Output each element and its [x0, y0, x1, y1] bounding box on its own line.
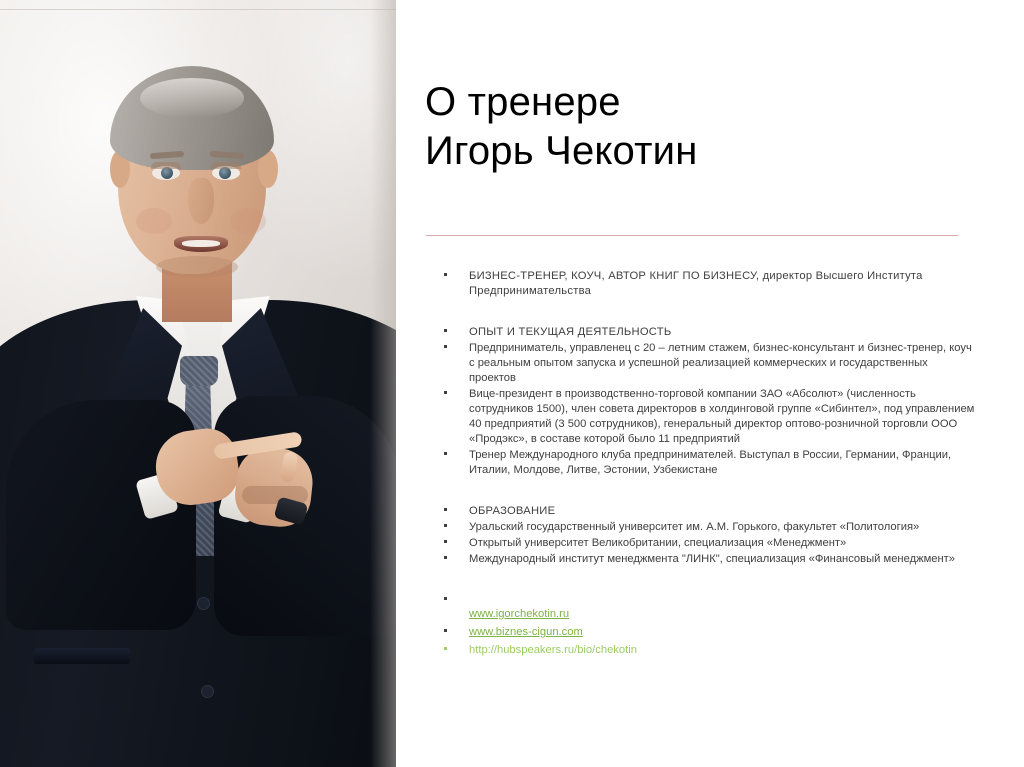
- eyelid-left: [151, 162, 181, 169]
- list-item-text: Вице-президент в производственно-торгово…: [469, 388, 974, 445]
- bullet-dot-icon: [444, 391, 447, 394]
- link-item-biznes-cigun[interactable]: www.biznes-cigun.com: [435, 625, 975, 640]
- list-item: Вице-президент в производственно-торгово…: [435, 387, 975, 447]
- bullet-dot-icon: [444, 629, 447, 632]
- list-item-spacer: [435, 593, 975, 606]
- mouth: [174, 236, 228, 252]
- list-item-text: Тренер Международного клуба предпринимат…: [469, 449, 951, 476]
- bullet-dot-icon: [444, 452, 447, 455]
- link-text[interactable]: www.biznes-cigun.com: [469, 626, 583, 638]
- bullet-dot-icon: [444, 597, 447, 600]
- list-item-text: Открытый университет Великобритании, спе…: [469, 537, 846, 549]
- list-item-text: Международный институт менеджмента "ЛИНК…: [469, 553, 955, 565]
- title-divider: [426, 235, 958, 236]
- jacket-pocket: [34, 648, 130, 664]
- link-item-hubspeakers[interactable]: http://hubspeakers.ru/bio/chekotin: [435, 643, 975, 658]
- photo-right-edge: [370, 0, 396, 767]
- list-item: Международный институт менеджмента "ЛИНК…: [435, 552, 975, 567]
- person-figure: [0, 0, 396, 767]
- cheek-left: [136, 208, 172, 234]
- nose: [188, 178, 214, 224]
- link-item-site[interactable]: www.igorchekotin.ru: [435, 607, 975, 622]
- list-item-text: Предприниматель, управленец с 20 – летни…: [469, 342, 972, 384]
- list-item-text: Уральский государственный университет им…: [469, 521, 919, 533]
- necktie-knot: [180, 356, 218, 386]
- bullet-list: БИЗНЕС-ТРЕНЕР, КОУЧ, АВТОР КНИГ ПО БИЗНЕ…: [435, 269, 975, 661]
- title-line-1: О тренере: [425, 78, 985, 127]
- bullet-dot-icon: [444, 647, 447, 650]
- bullet-group-education: ОБРАЗОВАНИЕ Уральский государственный ун…: [435, 504, 975, 567]
- list-item: ОБРАЗОВАНИЕ: [435, 504, 975, 519]
- bullet-group-links: www.igorchekotin.ru www.biznes-cigun.com…: [435, 593, 975, 658]
- chin: [156, 256, 238, 278]
- cheek-right: [230, 208, 266, 234]
- list-item: Открытый университет Великобритании, спе…: [435, 536, 975, 551]
- page-title: О тренере Игорь Чекотин: [425, 78, 985, 176]
- list-item: ОПЫТ И ТЕКУЩАЯ ДЕЯТЕЛЬНОСТЬ: [435, 325, 975, 340]
- list-item: БИЗНЕС-ТРЕНЕР, КОУЧ, АВТОР КНИГ ПО БИЗНЕ…: [435, 269, 975, 299]
- slide-canvas: О тренере Игорь Чекотин БИЗНЕС-ТРЕНЕР, К…: [0, 0, 1024, 767]
- bullet-group-experience: ОПЫТ И ТЕКУЩАЯ ДЕЯТЕЛЬНОСТЬ Предпринимат…: [435, 325, 975, 478]
- bullet-group-intro: БИЗНЕС-ТРЕНЕР, КОУЧ, АВТОР КНИГ ПО БИЗНЕ…: [435, 269, 975, 299]
- list-item: Предприниматель, управленец с 20 – летни…: [435, 341, 975, 386]
- link-text[interactable]: http://hubspeakers.ru/bio/chekotin: [469, 644, 637, 656]
- bullet-dot-icon: [444, 329, 447, 332]
- slide-content: О тренере Игорь Чекотин БИЗНЕС-ТРЕНЕР, К…: [425, 0, 1000, 767]
- jacket-button-top: [198, 598, 209, 609]
- list-item: Тренер Международного клуба предпринимат…: [435, 448, 975, 478]
- jacket-button-bottom: [202, 686, 213, 697]
- title-line-2: Игорь Чекотин: [425, 127, 985, 176]
- bullet-dot-icon: [444, 273, 447, 276]
- bullet-dot-icon: [444, 540, 447, 543]
- list-item-text: ОПЫТ И ТЕКУЩАЯ ДЕЯТЕЛЬНОСТЬ: [469, 326, 671, 338]
- link-text[interactable]: www.igorchekotin.ru: [469, 608, 569, 620]
- bullet-dot-icon: [444, 508, 447, 511]
- list-item-text: ОБРАЗОВАНИЕ: [469, 505, 555, 517]
- arm-left: [6, 400, 196, 630]
- bullet-dot-icon: [444, 556, 447, 559]
- list-item: Уральский государственный университет им…: [435, 520, 975, 535]
- list-item-text: БИЗНЕС-ТРЕНЕР, КОУЧ, АВТОР КНИГ ПО БИЗНЕ…: [469, 270, 923, 297]
- speaker-photo: [0, 0, 396, 767]
- bullet-dot-icon: [444, 345, 447, 348]
- bullet-dot-icon: [444, 524, 447, 527]
- eyelid-right: [211, 162, 241, 169]
- hair: [110, 66, 274, 170]
